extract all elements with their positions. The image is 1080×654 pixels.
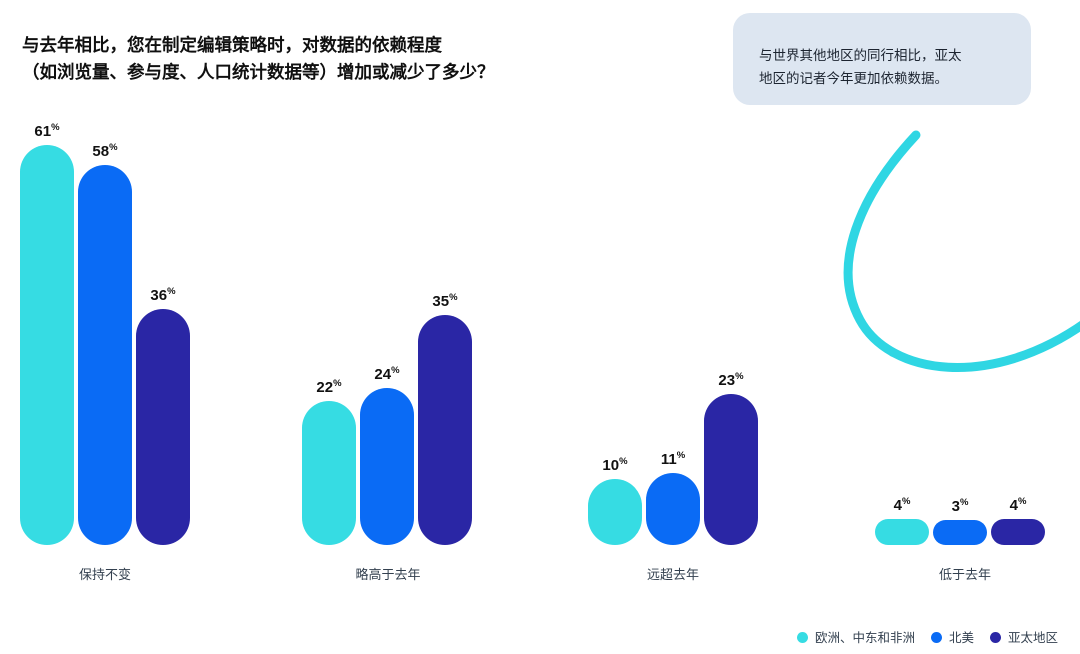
bar-value-label: 58% <box>68 143 142 159</box>
category-label: 远超去年 <box>583 568 763 581</box>
legend-item[interactable]: 亚太地区 <box>990 632 1058 645</box>
percent-sign: % <box>167 286 175 297</box>
bar <box>360 388 414 545</box>
legend-item[interactable]: 北美 <box>931 632 974 645</box>
bar <box>646 473 700 545</box>
bar-value-number: 10 <box>602 457 619 474</box>
legend-color-dot <box>797 632 808 643</box>
percent-sign: % <box>51 122 59 133</box>
category-label: 低于去年 <box>875 568 1055 581</box>
bar <box>302 401 356 545</box>
legend-label: 亚太地区 <box>1008 632 1058 645</box>
bar-value-number: 35 <box>432 293 449 310</box>
percent-sign: % <box>960 497 968 508</box>
chart-legend: 欧洲、中东和非洲北美亚太地区 <box>797 632 1058 645</box>
bar <box>875 519 929 545</box>
bar-value-label: 61% <box>10 123 84 139</box>
bar-value-number: 22 <box>316 379 333 396</box>
category-label: 略高于去年 <box>298 568 478 581</box>
bar-value-label: 36% <box>126 287 200 303</box>
percent-sign: % <box>109 142 117 153</box>
percent-sign: % <box>902 496 910 507</box>
bar-value-number: 4 <box>894 497 902 514</box>
legend-color-dot <box>990 632 1001 643</box>
bar <box>704 394 758 545</box>
bar-value-label: 11% <box>636 451 710 467</box>
bar-chart-plot: 61%58%36%保持不变22%24%35%略高于去年10%11%23%远超去年… <box>0 0 1080 654</box>
percent-sign: % <box>391 365 399 376</box>
legend-item[interactable]: 欧洲、中东和非洲 <box>797 632 915 645</box>
percent-sign: % <box>449 292 457 303</box>
chart-page: 与去年相比，您在制定编辑策略时，对数据的依赖程度 （如浏览量、参与度、人口统计数… <box>0 0 1080 654</box>
bar-value-number: 3 <box>952 498 960 515</box>
bar <box>933 520 987 545</box>
bar <box>136 309 190 545</box>
bar <box>78 165 132 545</box>
bar-value-label: 24% <box>350 366 424 382</box>
bar-value-number: 24 <box>374 366 391 383</box>
bar-value-number: 61 <box>34 123 51 140</box>
bar <box>991 519 1045 545</box>
bar-value-number: 4 <box>1010 497 1018 514</box>
bar-value-label: 35% <box>408 293 482 309</box>
percent-sign: % <box>1018 496 1026 507</box>
bar-value-label: 23% <box>694 372 768 388</box>
bar <box>418 315 472 545</box>
bar <box>588 479 642 545</box>
percent-sign: % <box>735 371 743 382</box>
bar-value-number: 11 <box>661 451 677 468</box>
bar-value-number: 23 <box>718 372 735 389</box>
legend-label: 北美 <box>949 632 974 645</box>
legend-color-dot <box>931 632 942 643</box>
legend-label: 欧洲、中东和非洲 <box>815 632 915 645</box>
bar-value-number: 58 <box>92 143 109 160</box>
percent-sign: % <box>619 456 627 467</box>
percent-sign: % <box>677 450 685 461</box>
category-label: 保持不变 <box>15 568 195 581</box>
bar-value-label: 4% <box>981 497 1055 513</box>
bar-value-number: 36 <box>150 287 167 304</box>
percent-sign: % <box>333 378 341 389</box>
bar <box>20 145 74 545</box>
